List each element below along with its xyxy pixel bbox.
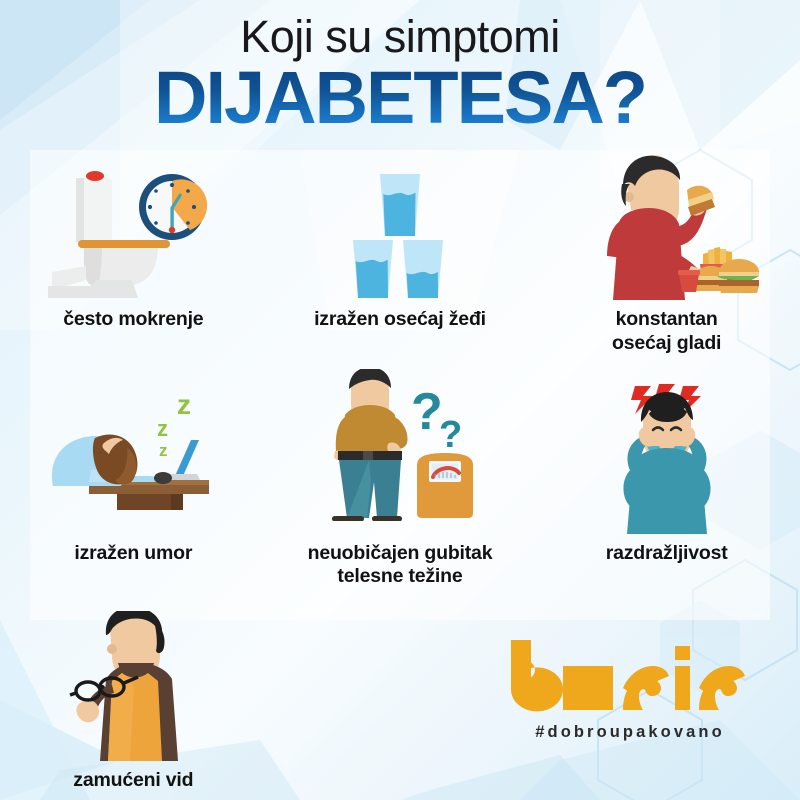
symptom-caption: konstantan osećaj gladi	[612, 308, 721, 356]
frustrated-man-icon	[579, 384, 754, 534]
caption-line-2: osećaj gladi	[612, 332, 721, 354]
symptom-caption: zamućeni vid	[73, 769, 193, 793]
poster-header: Koji su simptomi DIJABETESA?	[0, 14, 800, 135]
symptom-item-constant-hunger: konstantan osećaj gladi	[533, 160, 800, 356]
symptom-icon-fatigue: z z z	[31, 384, 236, 534]
symptom-caption: razdražljivost	[606, 542, 728, 566]
caption-line-2: telesne težine	[337, 565, 462, 587]
symptom-caption: neuobičajen gubitak telesne težine	[308, 542, 493, 590]
page-title: DIJABETESA?	[0, 61, 800, 135]
svg-text:?: ?	[411, 383, 443, 441]
symptom-icon-excessive-thirst	[315, 160, 485, 300]
symptom-caption: izražen umor	[74, 542, 192, 566]
brand-logo: #dobroupakovano	[505, 638, 755, 742]
man-with-scale-question-icon: ? ?	[305, 369, 495, 534]
symptom-icon-weight-loss: ? ?	[305, 384, 495, 534]
symptom-row: z z z	[0, 384, 800, 590]
caption-line-1: neuobičajen gubitak	[308, 542, 493, 564]
symptom-caption: izražen osećaj žeđi	[314, 308, 486, 332]
toilet-clock-icon	[38, 160, 228, 300]
basis-wordmark-icon	[505, 638, 755, 714]
symptom-icon-irritability	[579, 384, 754, 534]
svg-text:z: z	[157, 416, 168, 441]
svg-text:?: ?	[439, 414, 462, 456]
symptom-item-unexplained-weight-loss: ? ?	[267, 384, 534, 590]
svg-text:z: z	[159, 441, 168, 460]
symptom-item-irritability: razdražljivost	[533, 384, 800, 590]
water-glasses-icon	[315, 160, 485, 300]
symptom-icon-frequent-urination	[38, 160, 228, 300]
brand-tagline: #dobroupakovano	[505, 723, 755, 742]
man-eating-burger-icon	[567, 150, 767, 300]
svg-text:z: z	[177, 389, 191, 420]
symptom-icon-blurred-vision	[36, 611, 231, 761]
empty-cell	[267, 611, 534, 793]
symptom-row: često mokrenje	[0, 160, 800, 356]
caption-line-1: konstantan	[616, 308, 718, 330]
infographic-poster: Koji su simptomi DIJABETESA?	[0, 0, 800, 800]
symptom-item-frequent-urination: često mokrenje	[0, 160, 267, 356]
symptom-item-excessive-thirst: izražen osećaj žeđi	[267, 160, 534, 356]
header-kicker: Koji su simptomi	[0, 14, 800, 59]
man-holding-glasses-icon	[36, 611, 231, 761]
symptom-caption: često mokrenje	[63, 308, 203, 332]
tired-person-at-desk-icon: z z z	[31, 384, 236, 534]
symptom-icon-constant-hunger	[567, 160, 767, 300]
symptom-item-blurred-vision: zamućeni vid	[0, 611, 267, 793]
symptom-item-fatigue: z z z	[0, 384, 267, 590]
